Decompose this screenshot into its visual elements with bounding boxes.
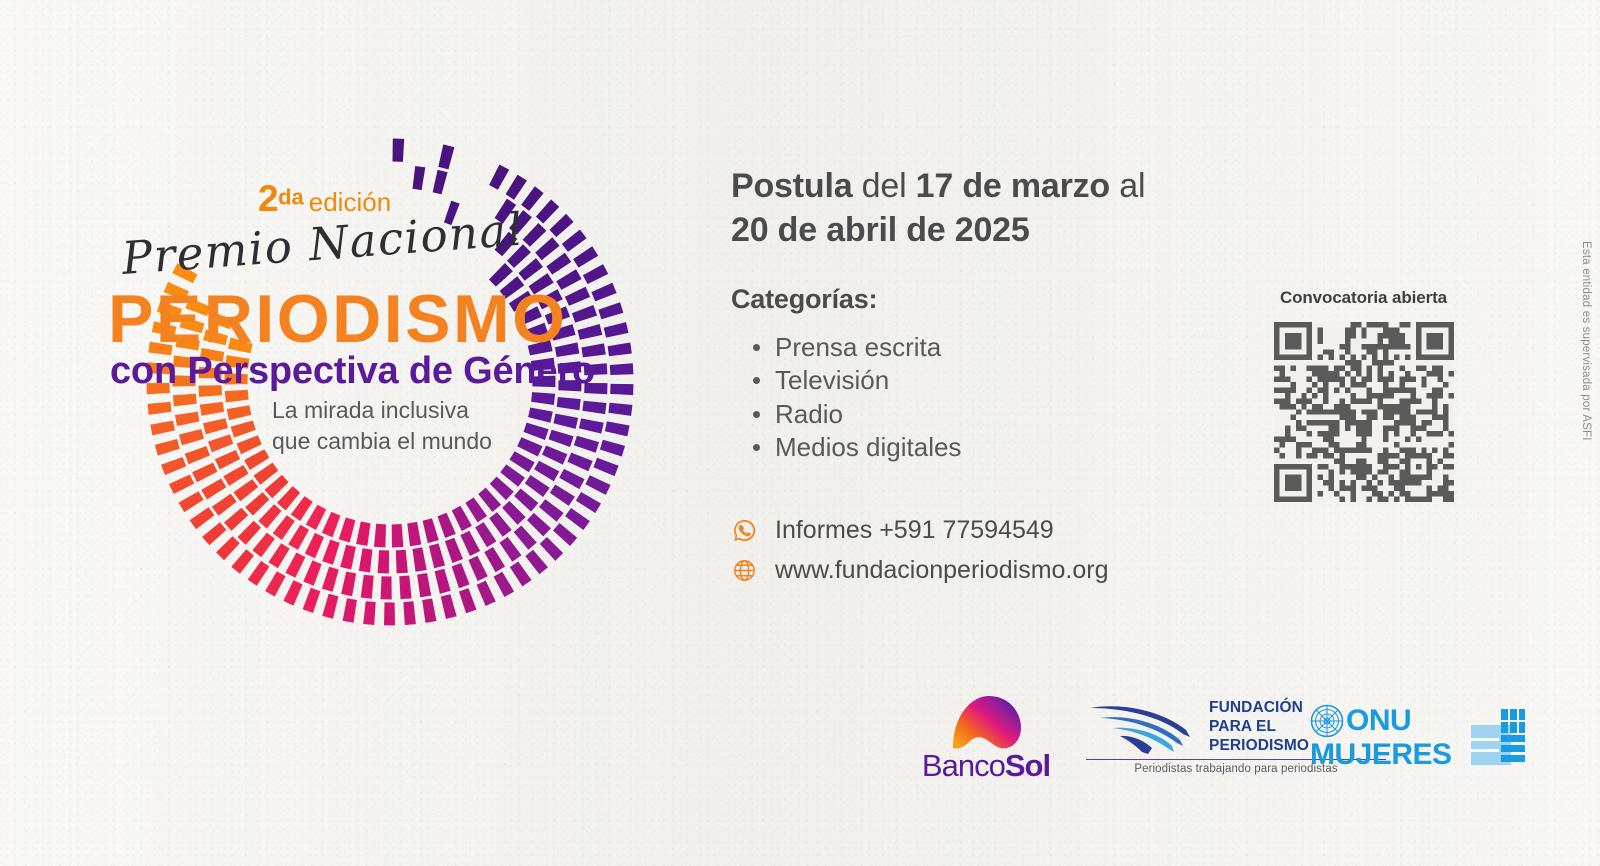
ring-tile [413,166,426,190]
ring-tile [525,475,550,497]
ring-tile [452,563,470,588]
ring-tile [245,492,269,515]
ring-tile [403,601,416,625]
ring-tile [179,491,204,512]
qr-caption: Convocatoria abierta [1256,288,1471,308]
ring-tile [459,588,477,613]
ring-tile [268,543,289,568]
ring-tile [288,525,309,550]
ring-tile [500,537,522,562]
contact-list: Informes +591 77594549 www.fundacionperi… [731,510,1291,590]
ring-tile [273,515,295,540]
ring-tile [216,536,240,560]
ring-tile [565,287,590,306]
ring-tile [340,545,356,570]
ring-tile [417,573,431,597]
edition-superscript: da [278,185,304,210]
onu-wordmark-mujeres: MUJERES [1310,740,1465,770]
ring-tile [441,594,457,619]
ring-tile [600,440,625,457]
ring-tile [514,526,537,550]
ring-tile [384,602,395,625]
onu-mujeres-bars-icon [1471,709,1525,765]
bancosol-word-sol: Sol [1005,748,1050,783]
ring-tile [591,283,616,302]
ring-tile [202,522,226,545]
deadline-verb: Postula [731,167,852,205]
announcement-copy: Postula del 17 de marzo al 20 de abril d… [731,165,1291,590]
ring-tile [303,588,321,613]
ring-tile [237,435,262,454]
ring-tile [540,537,564,561]
ring-tile [258,504,281,528]
contact-whatsapp-text: Informes +591 77594549 [775,516,1054,545]
ring-tile [185,446,210,464]
ring-tile [527,513,551,537]
ring-tile [604,322,629,338]
ring-tile [381,576,392,599]
ring-tile [423,518,439,543]
ring-tile [150,421,175,436]
ring-tile [322,567,339,592]
ring-tile [572,305,597,323]
ring-tile [169,475,194,495]
ring-tile [252,533,275,558]
ring-tile [574,436,599,453]
ring-tile [608,403,632,416]
ring-tile [200,402,224,416]
globe-icon [731,557,757,583]
ring-tile [173,394,197,407]
ring-tile [536,199,559,223]
list-item: Radio [753,398,1291,431]
ring-tile [510,561,532,586]
ring-tile [231,549,254,574]
list-item: Prensa escrita [753,331,1291,364]
award-logo-lockup: 2daedición Premio Nacional PERIODISMO co… [0,0,700,700]
contact-website-text: www.fundacionperiodismo.org [775,556,1109,585]
ring-tile [179,429,204,445]
tagline: La mirada inclusiva que cambia el mundo [272,395,492,456]
ring-tile [224,508,248,531]
ring-tile [475,522,496,547]
deadline-connector-2: al [1110,167,1145,205]
ring-tile [562,230,587,252]
ring-tile [514,489,538,512]
ring-tile [422,598,436,623]
ring-tile [223,465,248,486]
ring-tile [445,538,463,563]
contact-website[interactable]: www.fundacionperiodismo.org [731,550,1291,590]
ring-tile [227,405,252,420]
ring-tile [610,363,634,375]
ring-tile [438,144,454,169]
ring-tile [356,522,370,546]
deadline-end-date: 20 de abril de 2025 [731,211,1030,249]
ring-tile [578,324,603,340]
ring-tile [305,533,324,558]
ring-tile [248,561,270,586]
ring-tile [192,463,217,483]
ring-tile [521,186,543,211]
ring-tile [517,437,542,456]
ring-tile [413,547,427,571]
whatsapp-icon [731,517,757,543]
ring-tile [549,430,574,447]
ring-tile [393,139,405,162]
ring-tile [231,421,256,438]
ring-tile [208,434,233,452]
ring-tile [452,506,472,531]
list-item: Medios digitales [753,431,1291,464]
ring-tile [484,547,505,572]
ring-tile [363,601,376,625]
deadline-start-date: 17 de marzo [916,167,1110,205]
ring-tile [468,556,487,581]
sun-arc-mark [947,694,1025,750]
ring-tile [433,170,448,195]
ring-tile [244,449,269,470]
logo-bancosol: BancoSol [906,694,1066,784]
ring-tile [550,214,574,237]
ring-tile [303,560,321,585]
ring-tile [524,423,549,440]
ring-tile [285,553,305,578]
ring-tile [582,401,606,414]
ring-tile [502,501,526,525]
ring-tile [531,392,555,405]
ring-tile [494,572,514,597]
asfi-supervision-note: Esta entidad es supervisada por ASFI [1580,241,1592,441]
ring-tile [553,523,577,546]
ring-tile [598,302,623,319]
ring-tile [608,343,632,357]
ring-tile [489,165,509,190]
list-item: Televisión [753,364,1291,397]
ring-tile [460,531,480,556]
un-emblem-mark [1310,704,1344,738]
fundacion-line-2: PARA EL [1209,718,1309,737]
ring-tile [593,458,618,476]
contact-whatsapp[interactable]: Informes +591 77594549 [731,510,1291,550]
ring-tile [215,450,240,470]
ring-tile [579,418,604,433]
ring-tile [573,246,598,267]
deadline-text: Postula del 17 de marzo al 20 de abril d… [731,165,1291,252]
ring-tile [378,550,390,573]
onu-wordmark-onu: ONU [1346,706,1411,736]
page-subtitle: con Perspectiva de Género [110,352,595,390]
ring-tile [322,594,338,619]
ring-tile [283,580,302,605]
ring-tile [519,258,544,281]
ring-tile [322,540,340,565]
ring-tile [396,550,408,574]
ring-tile [339,518,356,543]
ring-tile [489,512,512,537]
qr-code-icon[interactable] [1271,322,1457,502]
ring-tile [155,439,180,456]
bancosol-word-banco: Banco [922,748,1005,783]
ring-tile [306,505,326,530]
ring-tile [343,598,357,622]
tagline-line-2: que cambia el mundo [272,426,492,457]
qr-section: Convocatoria abierta [1256,288,1471,502]
ring-tile [610,384,633,395]
ring-tile [510,451,535,472]
ring-tile [203,418,228,434]
fundacion-line-3: PERIODISMO [1209,737,1309,756]
ring-tile [506,175,527,200]
ring-tile [477,581,496,606]
ring-tile [341,572,356,597]
logo-onu-mujeres: ONU MUJERES [1310,704,1525,770]
ring-tile [605,421,630,436]
page-title: PERIODISMO [108,285,568,353]
ring-tile [550,485,575,506]
ring-tile [438,513,456,538]
fundacion-wordmark: FUNDACIÓN PARA EL PERIODISMO [1209,699,1309,756]
categories-heading: Categorías: [731,284,1291,315]
categories-list: Prensa escrita Televisión Radio Medios d… [731,331,1291,464]
ring-tile [559,469,584,489]
ring-tile [175,412,200,427]
ring-tile [523,223,547,247]
ring-tile [212,494,237,516]
ring-tile [535,237,559,260]
edition-number: 2 [258,178,278,219]
ring-tile [361,575,374,599]
ring-tile [542,446,567,465]
ring-tile [539,499,564,522]
ring-tile [585,475,610,495]
deadline-connector-1: del [852,167,915,205]
ring-tile [583,264,608,284]
ring-tile [234,479,259,501]
ring-tile [525,550,548,575]
ring-tile [528,408,553,423]
fundacion-line-1: FUNDACIÓN [1209,699,1309,718]
sponsor-logos: BancoSol FUNDACIÓN PARA EL PERIODISMO Pe… [890,688,1530,798]
ring-tile [567,453,592,472]
ring-tile [322,512,341,537]
ring-tile [557,397,581,410]
ring-tile [161,457,186,475]
ring-tile [407,522,421,546]
ring-tile [534,461,559,482]
ring-tile [546,253,571,275]
tagline-line-1: La mirada inclusiva [272,395,492,426]
ring-tile [359,548,373,572]
ring-tile [399,576,411,600]
ring-tile [190,507,215,529]
ring-tile [201,479,226,500]
swoosh-pen-mark [1086,696,1201,756]
ring-tile [576,492,601,513]
ring-tile [374,524,386,548]
ring-tile [565,508,590,530]
ring-tile [265,571,286,596]
ring-tile [148,402,172,415]
ring-tile [238,521,262,545]
ring-tile [553,414,578,429]
ring-tile [435,569,451,594]
ring-tile [392,524,404,548]
bancosol-wordmark: BancoSol [906,748,1066,784]
ring-tile [429,543,445,568]
